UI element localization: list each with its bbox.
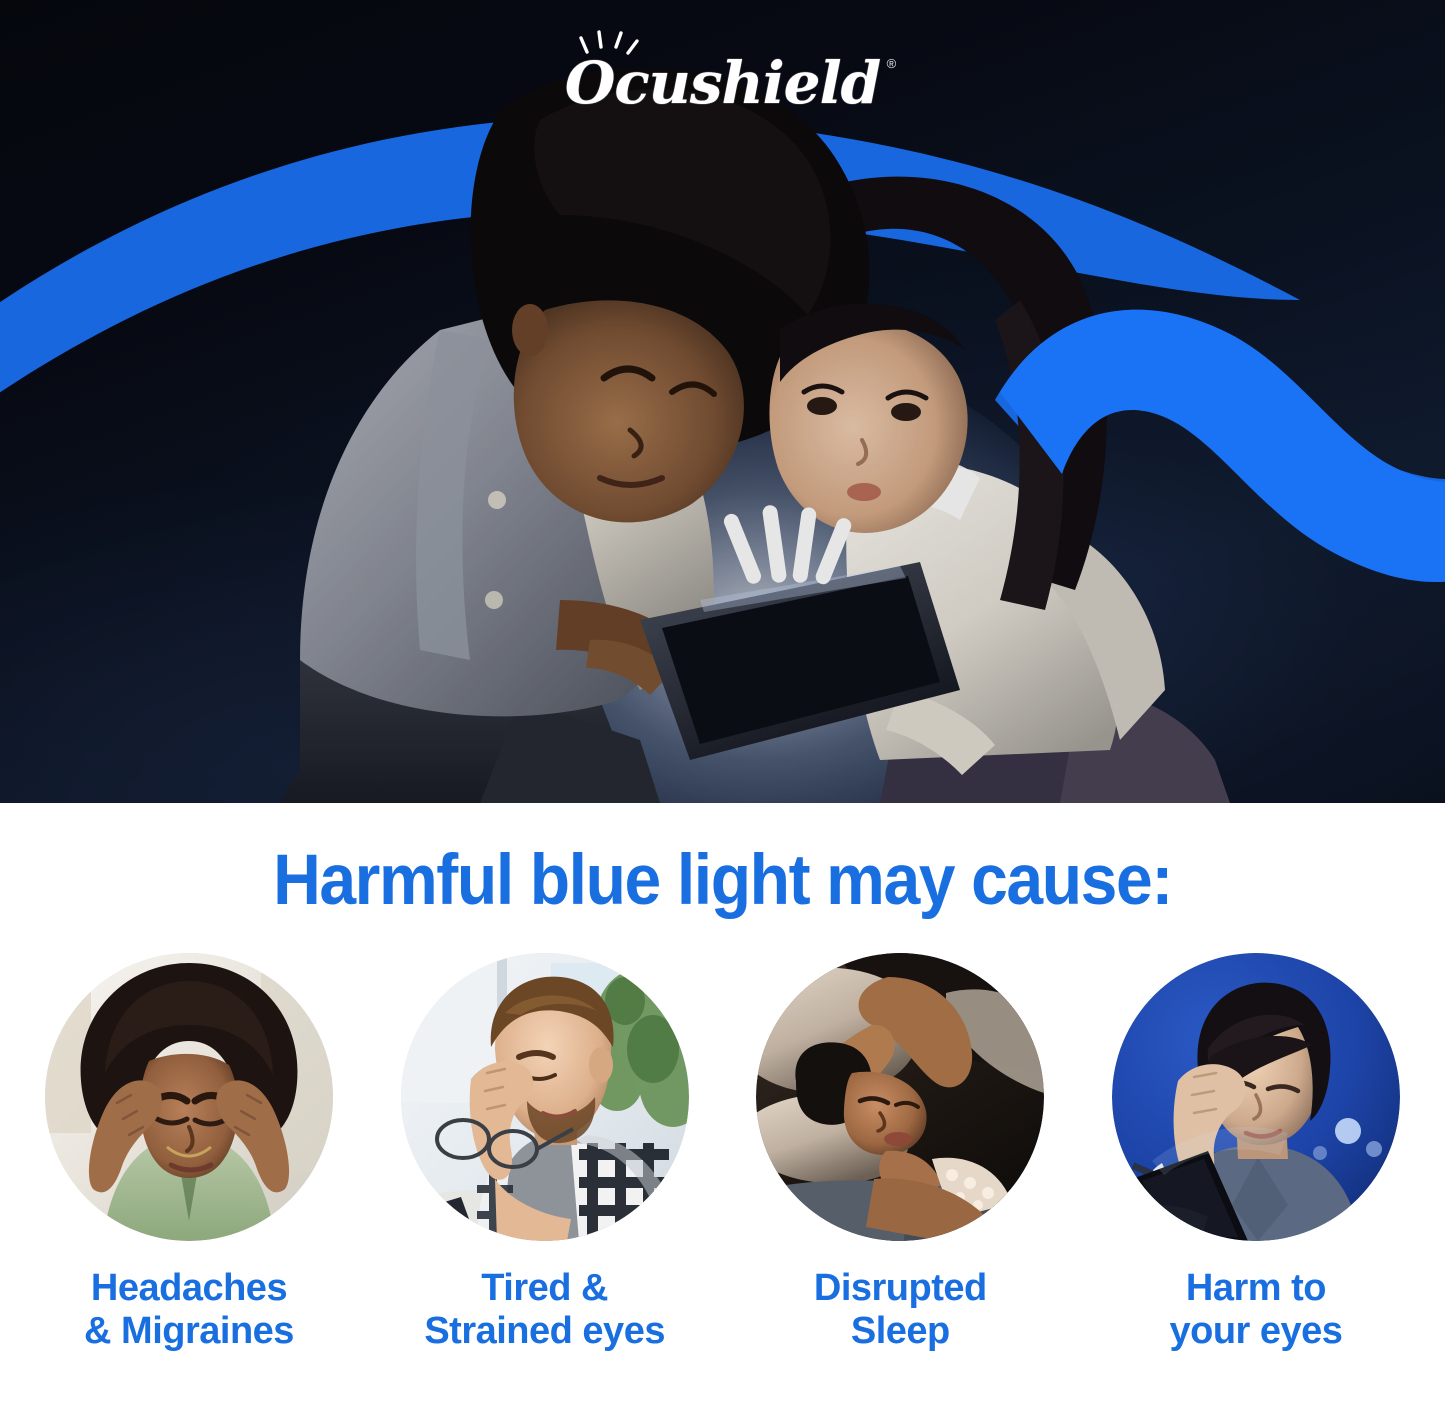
photo-headaches-illustration	[45, 953, 333, 1241]
photo-tired-eyes	[401, 953, 689, 1241]
page-title: Harmful blue light may cause:	[51, 845, 1395, 916]
hero-section: Ocushield ®	[0, 0, 1445, 803]
symptom-card-eye-harm: Harm to your eyes	[1091, 953, 1421, 1352]
photo-eye-harm-illustration	[1112, 953, 1400, 1241]
symptom-card-headaches: Headaches & Migraines	[24, 953, 354, 1352]
photo-eye-harm	[1112, 953, 1400, 1241]
symptom-caption: Tired & Strained eyes	[424, 1267, 665, 1352]
symptom-caption: Harm to your eyes	[1169, 1267, 1342, 1352]
photo-tired-eyes-illustration	[401, 953, 689, 1241]
hero-artwork	[0, 0, 1445, 803]
photo-disrupted-sleep	[756, 953, 1044, 1241]
symptom-card-tired-eyes: Tired & Strained eyes	[380, 953, 710, 1352]
benefits-section: Harmful blue light may cause:	[0, 803, 1445, 1406]
symptom-caption: Headaches & Migraines	[84, 1267, 294, 1352]
ocushield-blue-light-infographic: Ocushield ® Harmful blue light may cause…	[0, 0, 1445, 1406]
symptom-caption: Disrupted Sleep	[814, 1267, 987, 1352]
symptom-card-list: Headaches & Migraines	[0, 953, 1445, 1352]
symptom-card-disrupted-sleep: Disrupted Sleep	[735, 953, 1065, 1352]
photo-headaches	[45, 953, 333, 1241]
photo-disrupted-sleep-illustration	[756, 953, 1044, 1241]
